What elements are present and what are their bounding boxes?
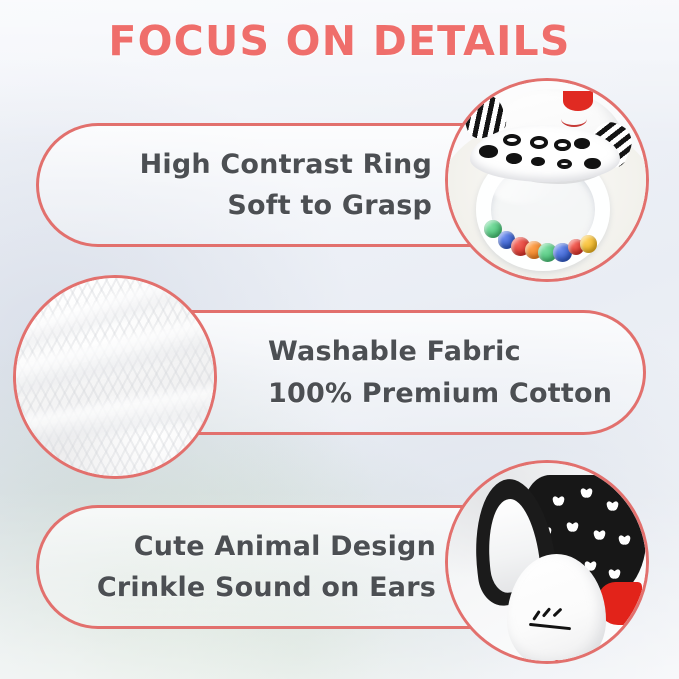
eyelash-icon [542,608,551,618]
callout-line: Crinkle Sound on Ears [97,567,436,608]
callout-line: Washable Fabric [268,331,521,372]
eyelash-icon [552,608,562,618]
dot [584,158,601,169]
rattle-ring-photo [445,78,649,282]
heart-pattern [619,535,631,546]
dot [557,159,572,169]
fabric-photo [13,275,217,479]
rattle-ring-image [448,81,646,279]
heart-pattern [607,501,619,512]
cat-face-image [448,463,646,661]
cat-face-photo [445,460,649,664]
dot [574,138,591,149]
callout-cute-animal-design: Cute Animal Design Crinkle Sound on Ears [36,505,506,629]
heart-pattern [594,530,606,541]
cat-nose-icon [551,660,564,661]
page-title: FOCUS ON DETAILS [0,17,679,65]
callout-line: Soft to Grasp [227,185,432,226]
dot [479,145,499,158]
heart-pattern [609,569,621,580]
heart-pattern [553,496,565,507]
dot [503,134,521,146]
callout-high-contrast-ring: High Contrast Ring Soft to Grasp [36,123,506,247]
callout-line: 100% Premium Cotton [268,373,612,414]
infographic-stage: FOCUS ON DETAILS High Contrast Ring Soft… [0,0,679,679]
eyelash-icon [529,623,571,630]
callout-washable-fabric: Washable Fabric 100% Premium Cotton [170,310,646,435]
fabric-fold [16,380,214,451]
heart-pattern [567,522,579,533]
fabric-image [16,278,214,476]
callout-line: Cute Animal Design [134,526,436,567]
callout-line: High Contrast Ring [140,144,432,185]
dot [554,139,571,150]
heart-pattern [581,488,593,499]
dot [506,153,523,164]
dot [531,157,545,167]
smile-icon [561,111,587,127]
eyelash-icon [532,610,541,621]
red-nose-icon [563,91,593,111]
dot [530,136,548,149]
